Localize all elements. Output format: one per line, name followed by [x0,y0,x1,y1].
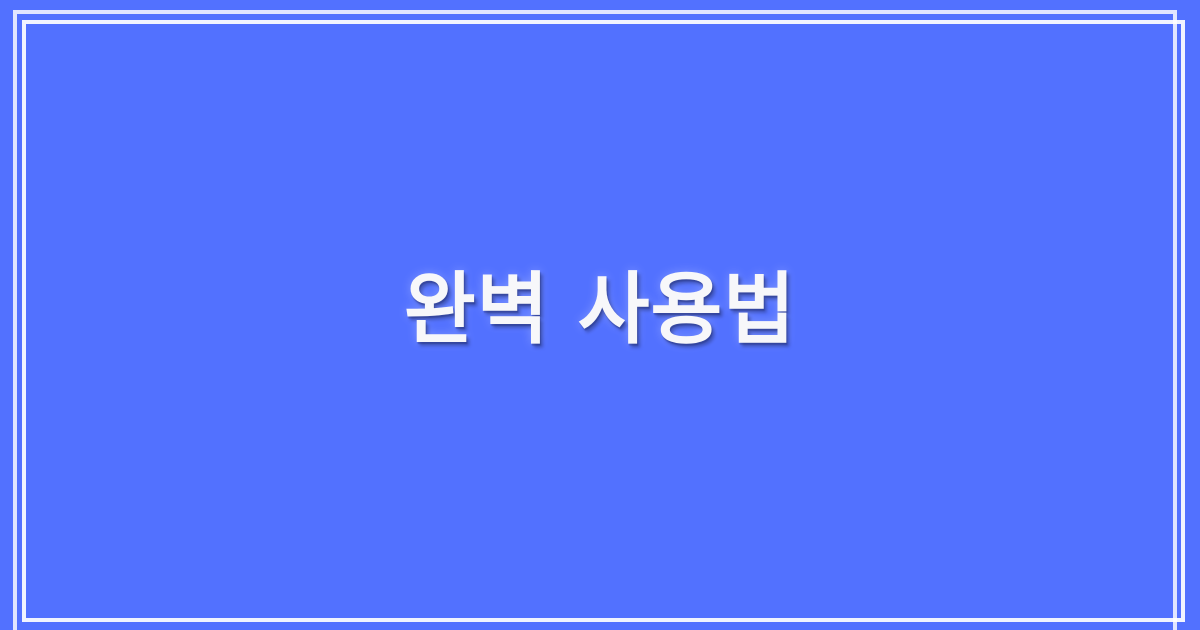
page-title: 완벽 사용법 [404,268,796,362]
thumbnail-card: 완벽 사용법 [0,0,1200,630]
title-area: 완벽 사용법 [0,0,1200,630]
